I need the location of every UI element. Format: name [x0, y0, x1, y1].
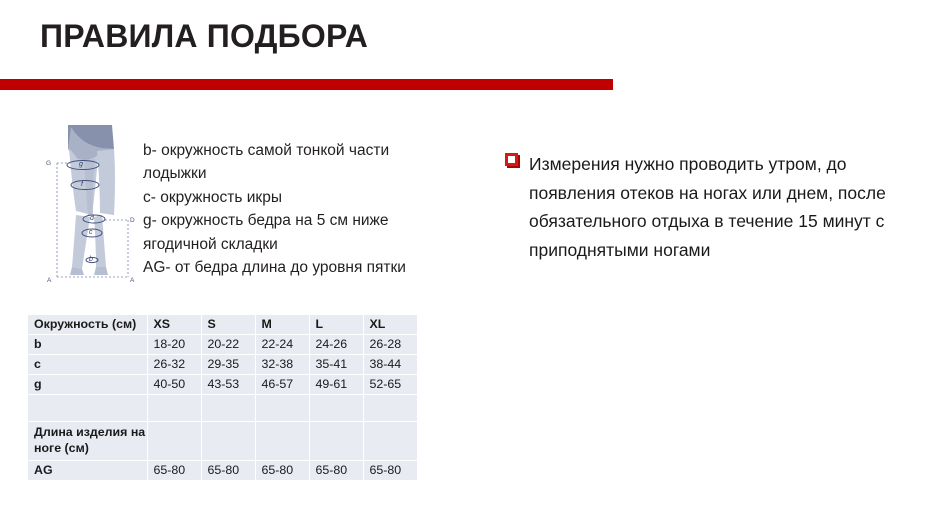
table-header-measure: Окружность (см) [28, 315, 147, 335]
cell-c-xs: 26-32 [147, 355, 201, 375]
diagram-corner-D: D [130, 217, 135, 224]
row-label-c: c [28, 355, 147, 375]
table-header-s: S [201, 315, 255, 335]
legend-line-g: g- окружность бедра на 5 см ниже ягодичн… [143, 209, 443, 256]
cell-empty-l [309, 395, 363, 422]
legend-line-b: b- окружность самой тонкой части лодыжки [143, 139, 443, 186]
table-header-m: M [255, 315, 309, 335]
leg-measurement-diagram: g f d c b G D A A [40, 115, 140, 305]
cell-length-m [255, 422, 309, 461]
cell-ag-xs: 65-80 [147, 461, 201, 481]
advice-bullet: Измерения нужно проводить утром, до появ… [505, 150, 905, 264]
diagram-label-g: g [79, 161, 83, 168]
cell-b-m: 22-24 [255, 335, 309, 355]
cell-b-l: 24-26 [309, 335, 363, 355]
cell-ag-xl: 65-80 [363, 461, 417, 481]
table-row: AG 65-80 65-80 65-80 65-80 65-80 [28, 461, 417, 481]
row-label-product-length: Длина изделия на ноге (см) [28, 422, 147, 461]
cell-length-s [201, 422, 255, 461]
diagram-corner-A-left: A [47, 277, 52, 284]
cell-g-l: 49-61 [309, 375, 363, 395]
row-label-empty [28, 395, 147, 422]
cell-length-l [309, 422, 363, 461]
cell-b-xl: 26-28 [363, 335, 417, 355]
cell-b-xs: 18-20 [147, 335, 201, 355]
cell-length-xs [147, 422, 201, 461]
table-row: Длина изделия на ноге (см) [28, 422, 417, 461]
table-header-l: L [309, 315, 363, 335]
cell-c-s: 29-35 [201, 355, 255, 375]
legend-line-c: c- окружность икры [143, 186, 443, 209]
row-label-ag: AG [28, 461, 147, 481]
cell-length-xl [363, 422, 417, 461]
title-accent-rule [0, 79, 613, 90]
cell-b-s: 20-22 [201, 335, 255, 355]
cell-ag-l: 65-80 [309, 461, 363, 481]
cell-empty-xl [363, 395, 417, 422]
diagram-corner-A-right: A [130, 277, 135, 284]
advice-bullet-text: Измерения нужно проводить утром, до появ… [529, 150, 905, 264]
row-label-b: b [28, 335, 147, 355]
row-label-g: g [28, 375, 147, 395]
cell-g-s: 43-53 [201, 375, 255, 395]
cell-c-m: 32-38 [255, 355, 309, 375]
cell-ag-m: 65-80 [255, 461, 309, 481]
cell-g-xs: 40-50 [147, 375, 201, 395]
cell-c-l: 35-41 [309, 355, 363, 375]
measurement-legend: b- окружность самой тонкой части лодыжки… [143, 139, 443, 279]
leg-silhouette [68, 125, 115, 275]
size-chart-table: Окружность (см) XS S M L XL b 18-20 20-2… [28, 315, 417, 481]
table-row: g 40-50 43-53 46-57 49-61 52-65 [28, 375, 417, 395]
table-header-row: Окружность (см) XS S M L XL [28, 315, 417, 335]
page-title: ПРАВИЛА ПОДБОРА [40, 18, 368, 55]
diagram-label-b: b [89, 256, 93, 263]
cell-c-xl: 38-44 [363, 355, 417, 375]
cell-empty-m [255, 395, 309, 422]
cell-empty-s [201, 395, 255, 422]
cell-ag-s: 65-80 [201, 461, 255, 481]
square-bullet-icon [505, 153, 518, 166]
table-row: c 26-32 29-35 32-38 35-41 38-44 [28, 355, 417, 375]
table-row-spacer [28, 395, 417, 422]
diagram-label-c: c [89, 229, 93, 236]
legend-line-ag: AG- от бедра длина до уровня пятки [143, 256, 443, 279]
table-header-xs: XS [147, 315, 201, 335]
diagram-corner-G: G [46, 160, 51, 167]
cell-empty-xs [147, 395, 201, 422]
cell-g-xl: 52-65 [363, 375, 417, 395]
table-header-xl: XL [363, 315, 417, 335]
table-row: b 18-20 20-22 22-24 24-26 26-28 [28, 335, 417, 355]
cell-g-m: 46-57 [255, 375, 309, 395]
